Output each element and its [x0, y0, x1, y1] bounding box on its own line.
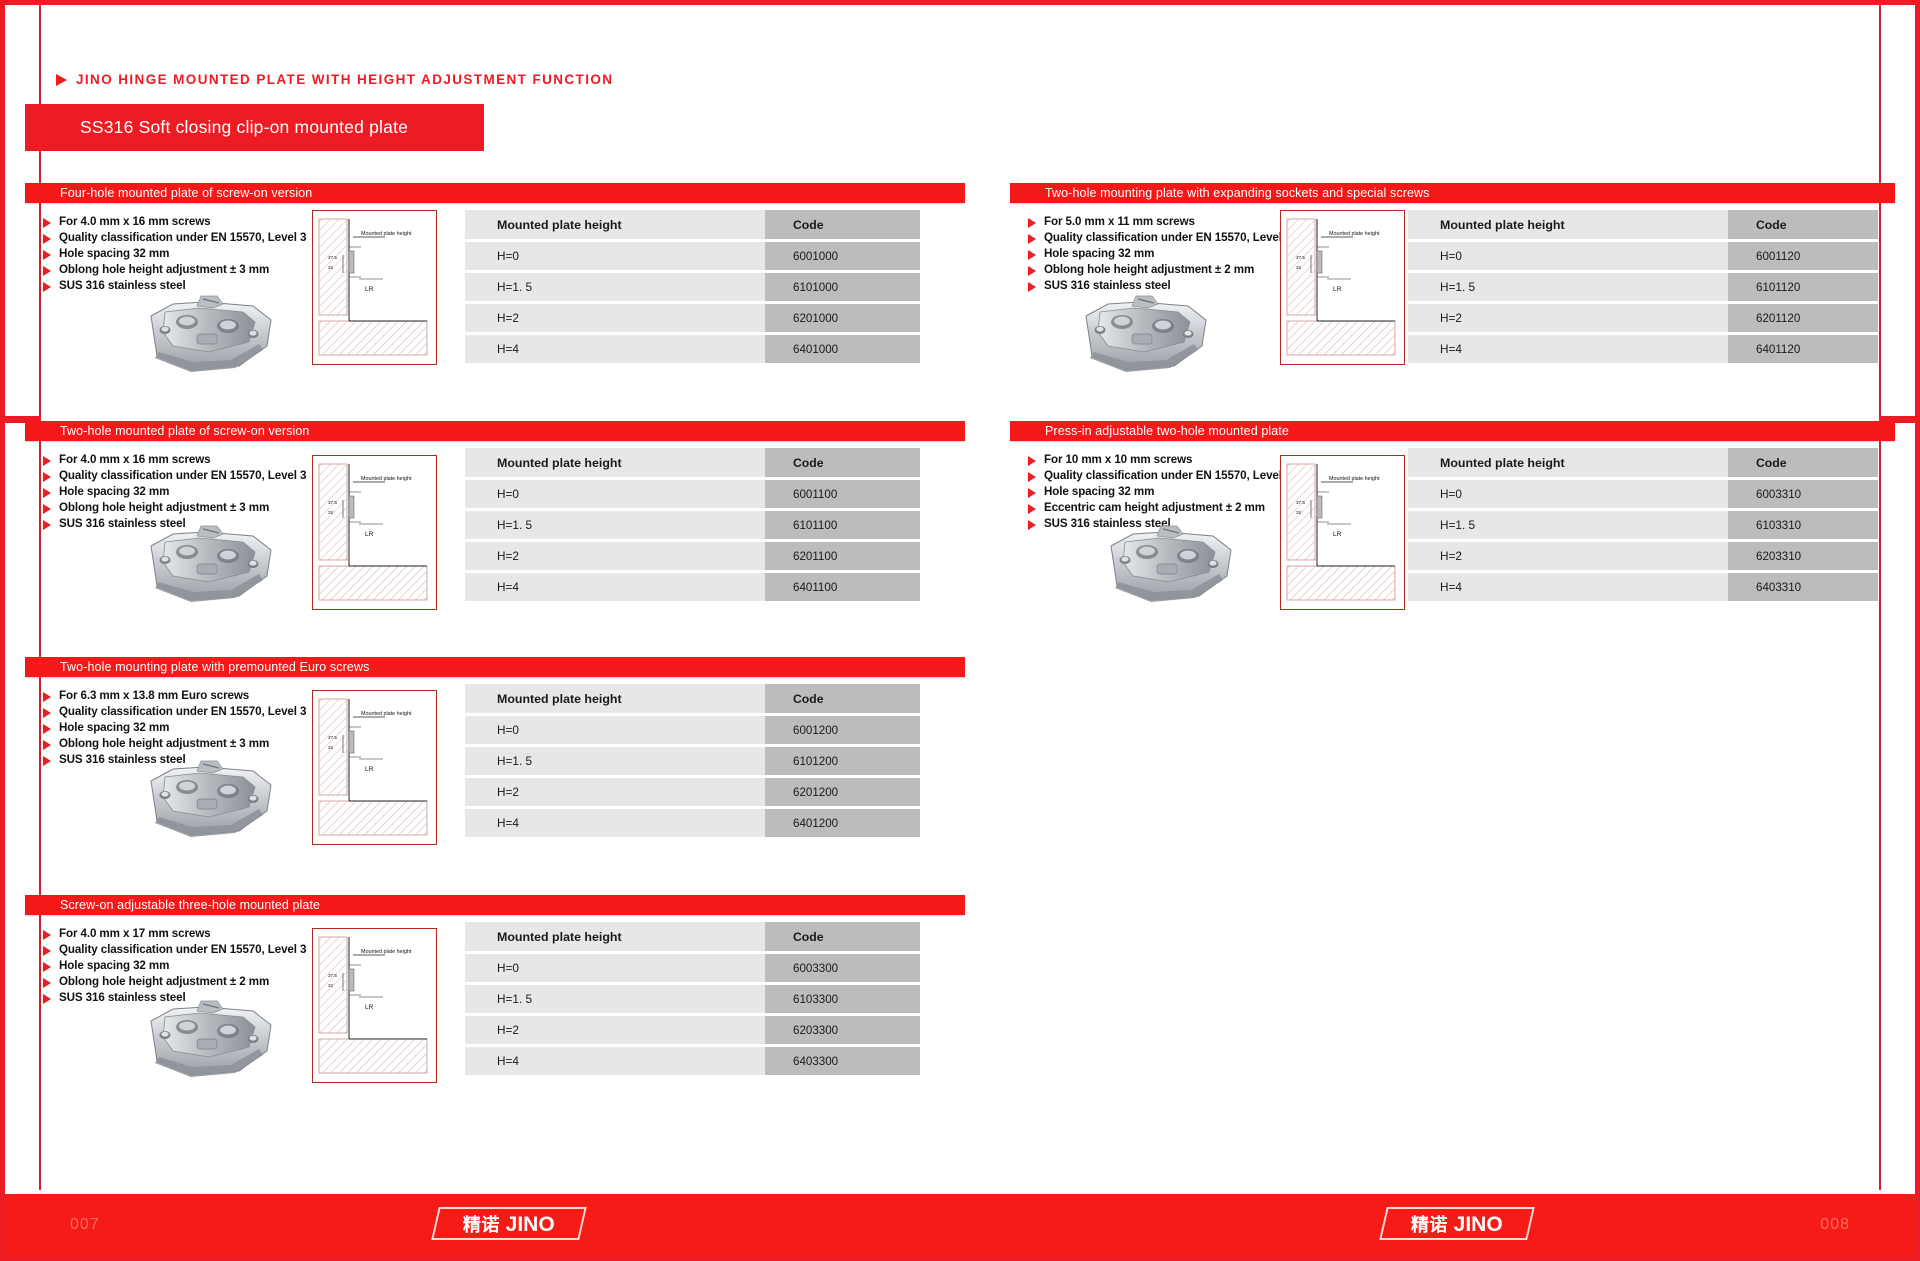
spec-bullet-row: Oblong hole height adjustment ± 3 mm	[43, 737, 313, 752]
product-section: Two-hole mounting plate with premounted …	[25, 657, 965, 677]
cell-plate-height: H=0	[465, 716, 765, 744]
spec-bullet-text: Hole spacing 32 mm	[59, 247, 169, 262]
brand-logo-en-left: JINO	[506, 1213, 555, 1236]
svg-text:Mounted plate height: Mounted plate height	[361, 231, 412, 237]
table-row: H=1. 5 6101000	[465, 273, 920, 301]
cell-product-code: 6201100	[765, 542, 920, 570]
spec-bullet-row: For 10 mm x 10 mm screws	[1028, 453, 1298, 468]
svg-text:Mounted plate height: Mounted plate height	[361, 949, 412, 955]
column-header-height: Mounted plate height	[465, 684, 765, 713]
spec-bullet-text: For 5.0 mm x 11 mm screws	[1044, 215, 1195, 230]
table-row: H=1. 5 6103310	[1408, 511, 1878, 539]
footer-bar: 007 008 精诺 JINO 精诺 JINO	[5, 1194, 1915, 1256]
series-banner-text: SS316 Soft closing clip-on mounted plate	[25, 117, 408, 138]
spec-bullet-text: Oblong hole height adjustment ± 3 mm	[59, 263, 269, 278]
technical-drawing-graphic: Mounted plate height 37.5 32 LR	[313, 929, 435, 1081]
spec-bullet-row: Hole spacing 32 mm	[43, 247, 313, 262]
svg-text:37.5: 37.5	[328, 973, 337, 978]
cell-plate-height: H=4	[465, 573, 765, 601]
cell-plate-height: H=2	[465, 778, 765, 806]
svg-text:Mounted plate height: Mounted plate height	[361, 476, 412, 482]
column-header-code: Code	[1728, 210, 1878, 239]
cell-plate-height: H=2	[465, 304, 765, 332]
cell-product-code: 6003310	[1728, 480, 1878, 508]
cell-plate-height: H=1. 5	[465, 273, 765, 301]
spec-bullet-text: For 4.0 mm x 17 mm screws	[59, 927, 211, 942]
cell-product-code: 6001100	[765, 480, 920, 508]
triangle-bullet-icon	[43, 708, 51, 718]
spec-bullet-text: Oblong hole height adjustment ± 3 mm	[59, 737, 269, 752]
spec-bullet-row: Oblong hole height adjustment ± 3 mm	[43, 501, 313, 516]
triangle-bullet-icon	[1028, 234, 1036, 244]
cell-product-code: 6103310	[1728, 511, 1878, 539]
table-row: H=1. 5 6101100	[465, 511, 920, 539]
table-row: H=4 6403310	[1408, 573, 1878, 601]
cell-plate-height: H=2	[1408, 304, 1728, 332]
section-header-bar: Two-hole mounted plate of screw-on versi…	[25, 421, 965, 441]
cell-product-code: 6401100	[765, 573, 920, 601]
cell-product-code: 6203300	[765, 1016, 920, 1044]
brand-logo-en-right: JINO	[1454, 1213, 1503, 1236]
triangle-bullet-icon	[43, 978, 51, 988]
frame-border-left	[0, 0, 5, 1261]
document-title: JINO HINGE MOUNTED PLATE WITH HEIGHT ADJ…	[56, 72, 613, 87]
spec-bullet-row: Hole spacing 32 mm	[1028, 247, 1298, 262]
triangle-bullet-icon	[43, 488, 51, 498]
spec-bullet-text: For 4.0 mm x 16 mm screws	[59, 215, 211, 230]
spec-bullet-text: Oblong hole height adjustment ± 2 mm	[59, 975, 269, 990]
brand-logo-left: 精诺 JINO	[431, 1207, 587, 1240]
spec-bullet-row: Quality classification under EN 15570, L…	[43, 705, 313, 720]
spec-bullet-row: Eccentric cam height adjustment ± 2 mm	[1028, 501, 1298, 516]
svg-text:LR: LR	[365, 286, 374, 293]
column-header-height: Mounted plate height	[465, 922, 765, 951]
cell-product-code: 6403310	[1728, 573, 1878, 601]
triangle-bullet-icon	[1028, 282, 1036, 292]
brand-logo-cn-right: 精诺	[1411, 1215, 1448, 1236]
spec-bullet-text: Quality classification under EN 15570, L…	[1044, 231, 1291, 246]
column-header-height: Mounted plate height	[1408, 448, 1728, 477]
section-title: Two-hole mounting plate with premounted …	[25, 660, 369, 674]
mounting-plate-photo-graphic	[1095, 520, 1245, 612]
section-header-bar: Screw-on adjustable three-hole mounted p…	[25, 895, 965, 915]
spec-bullet-text: For 10 mm x 10 mm screws	[1044, 453, 1192, 468]
table-row: H=2 6203300	[465, 1016, 920, 1044]
svg-text:32: 32	[1296, 265, 1302, 270]
cell-product-code: 6101120	[1728, 273, 1878, 301]
frame-border-top	[0, 0, 1920, 5]
table-row: H=1. 5 6101200	[465, 747, 920, 775]
table-row: H=4 6401120	[1408, 335, 1878, 363]
spec-bullet-row: For 4.0 mm x 16 mm screws	[43, 215, 313, 230]
cell-plate-height: H=0	[465, 242, 765, 270]
triangle-bullet-icon	[43, 946, 51, 956]
mounting-plate-photo-graphic	[1070, 290, 1220, 382]
triangle-bullet-icon	[56, 74, 67, 86]
cell-product-code: 6001000	[765, 242, 920, 270]
triangle-bullet-icon	[1028, 218, 1036, 228]
triangle-bullet-icon	[1028, 456, 1036, 466]
cell-plate-height: H=0	[465, 480, 765, 508]
column-header-code: Code	[765, 448, 920, 477]
spec-bullet-row: For 4.0 mm x 16 mm screws	[43, 453, 313, 468]
cell-plate-height: H=0	[465, 954, 765, 982]
spec-bullet-row: Oblong hole height adjustment ± 2 mm	[43, 975, 313, 990]
cell-plate-height: H=4	[1408, 335, 1728, 363]
table-row: H=2 6201200	[465, 778, 920, 806]
cell-product-code: 6401120	[1728, 335, 1878, 363]
mounting-plate-photo-graphic	[135, 995, 285, 1087]
triangle-bullet-icon	[1028, 472, 1036, 482]
svg-text:LR: LR	[365, 766, 374, 773]
cell-product-code: 6203310	[1728, 542, 1878, 570]
cell-product-code: 6101000	[765, 273, 920, 301]
cell-plate-height: H=2	[465, 542, 765, 570]
frame-border-right	[1915, 0, 1920, 1261]
cell-product-code: 6201000	[765, 304, 920, 332]
specification-table: Mounted plate height Code H=0 6001000 H=…	[465, 210, 920, 366]
section-title: Press-in adjustable two-hole mounted pla…	[1010, 424, 1289, 438]
technical-drawing-graphic: Mounted plate height 37.5 32 LR	[1281, 211, 1403, 363]
mounting-plate-photo	[1070, 290, 1220, 382]
document-title-text: JINO HINGE MOUNTED PLATE WITH HEIGHT ADJ…	[76, 72, 613, 87]
mounting-plate-photo-graphic	[135, 290, 285, 382]
cell-plate-height: H=4	[1408, 573, 1728, 601]
triangle-bullet-icon	[1028, 266, 1036, 276]
table-header-row: Mounted plate height Code	[465, 448, 920, 477]
spec-bullet-row: Hole spacing 32 mm	[43, 959, 313, 974]
table-row: H=4 6401000	[465, 335, 920, 363]
page-number-right: 008	[1820, 1216, 1850, 1234]
spec-bullet-text: Hole spacing 32 mm	[59, 721, 169, 736]
mounting-plate-photo	[135, 755, 285, 847]
section-title: Four-hole mounted plate of screw-on vers…	[25, 186, 312, 200]
cell-plate-height: H=2	[1408, 542, 1728, 570]
spec-bullet-row: Quality classification under EN 15570, L…	[1028, 231, 1298, 246]
svg-text:32: 32	[328, 510, 334, 515]
section-header-bar: Two-hole mounting plate with premounted …	[25, 657, 965, 677]
triangle-bullet-icon	[43, 250, 51, 260]
cell-plate-height: H=4	[465, 1047, 765, 1075]
table-row: H=1. 5 6103300	[465, 985, 920, 1013]
table-row: H=0 6001200	[465, 716, 920, 744]
spec-bullet-text: Hole spacing 32 mm	[1044, 485, 1154, 500]
triangle-bullet-icon	[43, 234, 51, 244]
technical-drawing-box: Mounted plate height 37.5 32 LR	[312, 455, 437, 610]
table-row: H=4 6403300	[465, 1047, 920, 1075]
svg-text:32: 32	[328, 265, 334, 270]
specification-table: Mounted plate height Code H=0 6001200 H=…	[465, 684, 920, 840]
triangle-bullet-icon	[1028, 250, 1036, 260]
spec-bullet-text: Hole spacing 32 mm	[59, 485, 169, 500]
cell-product-code: 6001120	[1728, 242, 1878, 270]
table-header-row: Mounted plate height Code	[465, 684, 920, 713]
table-row: H=4 6401200	[465, 809, 920, 837]
series-banner: SS316 Soft closing clip-on mounted plate	[25, 104, 484, 151]
table-header-row: Mounted plate height Code	[1408, 448, 1878, 477]
triangle-bullet-icon	[43, 218, 51, 228]
mounting-plate-photo-graphic	[135, 520, 285, 612]
spec-bullet-text: Oblong hole height adjustment ± 2 mm	[1044, 263, 1254, 278]
svg-text:37.5: 37.5	[1296, 255, 1305, 260]
cell-product-code: 6201120	[1728, 304, 1878, 332]
section-header-bar: Four-hole mounted plate of screw-on vers…	[25, 183, 965, 203]
section-header-bar: Two-hole mounting plate with expanding s…	[1010, 183, 1895, 203]
spec-bullet-row: For 6.3 mm x 13.8 mm Euro screws	[43, 689, 313, 704]
svg-text:37.5: 37.5	[328, 735, 337, 740]
table-row: H=1. 5 6101120	[1408, 273, 1878, 301]
triangle-bullet-icon	[43, 504, 51, 514]
section-title: Screw-on adjustable three-hole mounted p…	[25, 898, 320, 912]
svg-text:32: 32	[328, 745, 334, 750]
technical-drawing-box: Mounted plate height 37.5 32 LR	[312, 690, 437, 845]
spec-bullet-text: Quality classification under EN 15570, L…	[1044, 469, 1291, 484]
cell-plate-height: H=1. 5	[1408, 273, 1728, 301]
cell-plate-height: H=1. 5	[465, 511, 765, 539]
spec-bullet-row: Quality classification under EN 15570, L…	[43, 943, 313, 958]
spec-bullet-list: For 5.0 mm x 11 mm screws Quality classi…	[1028, 215, 1298, 295]
cell-product-code: 6101200	[765, 747, 920, 775]
mounting-plate-photo	[1095, 520, 1245, 612]
svg-text:LR: LR	[365, 531, 374, 538]
cell-plate-height: H=1. 5	[465, 985, 765, 1013]
table-row: H=2 6203310	[1408, 542, 1878, 570]
spec-bullet-text: For 4.0 mm x 16 mm screws	[59, 453, 211, 468]
svg-text:Mounted plate height: Mounted plate height	[361, 711, 412, 717]
cell-product-code: 6103300	[765, 985, 920, 1013]
column-header-code: Code	[765, 210, 920, 239]
cell-product-code: 6003300	[765, 954, 920, 982]
table-header-row: Mounted plate height Code	[465, 210, 920, 239]
spec-bullet-text: For 6.3 mm x 13.8 mm Euro screws	[59, 689, 249, 704]
cell-plate-height: H=4	[465, 809, 765, 837]
cell-product-code: 6001200	[765, 716, 920, 744]
cell-product-code: 6101100	[765, 511, 920, 539]
column-header-code: Code	[1728, 448, 1878, 477]
mounting-plate-photo	[135, 995, 285, 1087]
triangle-bullet-icon	[1028, 504, 1036, 514]
svg-text:LR: LR	[365, 1004, 374, 1011]
spec-bullet-row: Hole spacing 32 mm	[43, 485, 313, 500]
table-row: H=2 6201000	[465, 304, 920, 332]
spec-bullet-row: Hole spacing 32 mm	[43, 721, 313, 736]
specification-table: Mounted plate height Code H=0 6003300 H=…	[465, 922, 920, 1078]
triangle-bullet-icon	[43, 930, 51, 940]
product-section: Two-hole mounted plate of screw-on versi…	[25, 421, 965, 441]
cell-product-code: 6403300	[765, 1047, 920, 1075]
table-row: H=2 6201120	[1408, 304, 1878, 332]
spec-bullet-text: Hole spacing 32 mm	[59, 959, 169, 974]
triangle-bullet-icon	[43, 994, 51, 1004]
triangle-bullet-icon	[43, 520, 51, 530]
cell-product-code: 6401200	[765, 809, 920, 837]
column-header-code: Code	[765, 684, 920, 713]
technical-drawing-box: Mounted plate height 37.5 32 LR	[1280, 210, 1405, 365]
technical-drawing-graphic: Mounted plate height 37.5 32 LR	[313, 691, 435, 843]
section-title: Two-hole mounting plate with expanding s…	[1010, 186, 1429, 200]
technical-drawing-graphic: Mounted plate height 37.5 32 LR	[1281, 456, 1403, 608]
table-row: H=0 6001100	[465, 480, 920, 508]
column-header-code: Code	[765, 922, 920, 951]
spec-bullet-text: Oblong hole height adjustment ± 3 mm	[59, 501, 269, 516]
table-header-row: Mounted plate height Code	[1408, 210, 1878, 239]
spec-bullet-list: For 4.0 mm x 16 mm screws Quality classi…	[43, 215, 313, 295]
product-section: Four-hole mounted plate of screw-on vers…	[25, 183, 965, 203]
spec-bullet-row: Oblong hole height adjustment ± 3 mm	[43, 263, 313, 278]
spec-bullet-row: Oblong hole height adjustment ± 2 mm	[1028, 263, 1298, 278]
triangle-bullet-icon	[43, 692, 51, 702]
column-header-height: Mounted plate height	[465, 448, 765, 477]
spec-bullet-text: Eccentric cam height adjustment ± 2 mm	[1044, 501, 1265, 516]
spec-bullet-text: Quality classification under EN 15570, L…	[59, 705, 306, 720]
triangle-bullet-icon	[43, 756, 51, 766]
triangle-bullet-icon	[43, 740, 51, 750]
svg-text:LR: LR	[1333, 286, 1342, 293]
technical-drawing-box: Mounted plate height 37.5 32 LR	[1280, 455, 1405, 610]
spec-bullet-text: Quality classification under EN 15570, L…	[59, 943, 306, 958]
cell-product-code: 6401000	[765, 335, 920, 363]
specification-table: Mounted plate height Code H=0 6001120 H=…	[1408, 210, 1878, 366]
section-header-bar: Press-in adjustable two-hole mounted pla…	[1010, 421, 1895, 441]
specification-table: Mounted plate height Code H=0 6003310 H=…	[1408, 448, 1878, 604]
svg-text:32: 32	[1296, 510, 1302, 515]
spec-bullet-row: Quality classification under EN 15570, L…	[43, 469, 313, 484]
spec-bullet-row: Hole spacing 32 mm	[1028, 485, 1298, 500]
spec-bullet-row: Quality classification under EN 15570, L…	[43, 231, 313, 246]
mounting-plate-photo	[135, 290, 285, 382]
triangle-bullet-icon	[43, 282, 51, 292]
section-title: Two-hole mounted plate of screw-on versi…	[25, 424, 309, 438]
column-header-height: Mounted plate height	[1408, 210, 1728, 239]
table-row: H=4 6401100	[465, 573, 920, 601]
table-row: H=0 6003300	[465, 954, 920, 982]
spec-bullet-row: For 4.0 mm x 17 mm screws	[43, 927, 313, 942]
svg-text:32: 32	[328, 983, 334, 988]
triangle-bullet-icon	[1028, 488, 1036, 498]
product-section: Two-hole mounting plate with expanding s…	[1010, 183, 1895, 203]
mounting-plate-photo	[135, 520, 285, 612]
svg-text:37.5: 37.5	[328, 255, 337, 260]
cell-plate-height: H=0	[1408, 242, 1728, 270]
triangle-bullet-icon	[1028, 520, 1036, 530]
brand-logo-cn-left: 精诺	[463, 1215, 500, 1236]
spec-bullet-row: For 5.0 mm x 11 mm screws	[1028, 215, 1298, 230]
svg-text:LR: LR	[1333, 531, 1342, 538]
cell-plate-height: H=1. 5	[1408, 511, 1728, 539]
technical-drawing-graphic: Mounted plate height 37.5 32 LR	[313, 456, 435, 608]
svg-text:37.5: 37.5	[328, 500, 337, 505]
product-section: Screw-on adjustable three-hole mounted p…	[25, 895, 965, 915]
brand-logo-right: 精诺 JINO	[1379, 1207, 1535, 1240]
table-header-row: Mounted plate height Code	[465, 922, 920, 951]
svg-text:37.5: 37.5	[1296, 500, 1305, 505]
technical-drawing-box: Mounted plate height 37.5 32 LR	[312, 210, 437, 365]
spec-bullet-text: Quality classification under EN 15570, L…	[59, 231, 306, 246]
table-row: H=0 6001000	[465, 242, 920, 270]
technical-drawing-box: Mounted plate height 37.5 32 LR	[312, 928, 437, 1083]
spec-bullet-text: Hole spacing 32 mm	[1044, 247, 1154, 262]
table-row: H=2 6201100	[465, 542, 920, 570]
svg-text:Mounted plate height: Mounted plate height	[1329, 231, 1380, 237]
triangle-bullet-icon	[43, 962, 51, 972]
cell-plate-height: H=0	[1408, 480, 1728, 508]
spec-bullet-text: Quality classification under EN 15570, L…	[59, 469, 306, 484]
cell-plate-height: H=1. 5	[465, 747, 765, 775]
specification-table: Mounted plate height Code H=0 6001100 H=…	[465, 448, 920, 604]
page-number-left: 007	[70, 1216, 100, 1234]
cell-product-code: 6201200	[765, 778, 920, 806]
table-row: H=0 6001120	[1408, 242, 1878, 270]
technical-drawing-graphic: Mounted plate height 37.5 32 LR	[313, 211, 435, 363]
frame-border-bottom	[0, 1256, 1920, 1261]
spec-bullet-row: Quality classification under EN 15570, L…	[1028, 469, 1298, 484]
column-header-height: Mounted plate height	[465, 210, 765, 239]
cell-plate-height: H=4	[465, 335, 765, 363]
mounting-plate-photo-graphic	[135, 755, 285, 847]
table-row: H=0 6003310	[1408, 480, 1878, 508]
triangle-bullet-icon	[43, 472, 51, 482]
cell-plate-height: H=2	[465, 1016, 765, 1044]
triangle-bullet-icon	[43, 266, 51, 276]
product-section: Press-in adjustable two-hole mounted pla…	[1010, 421, 1895, 441]
triangle-bullet-icon	[43, 724, 51, 734]
svg-text:Mounted plate height: Mounted plate height	[1329, 476, 1380, 482]
triangle-bullet-icon	[43, 456, 51, 466]
